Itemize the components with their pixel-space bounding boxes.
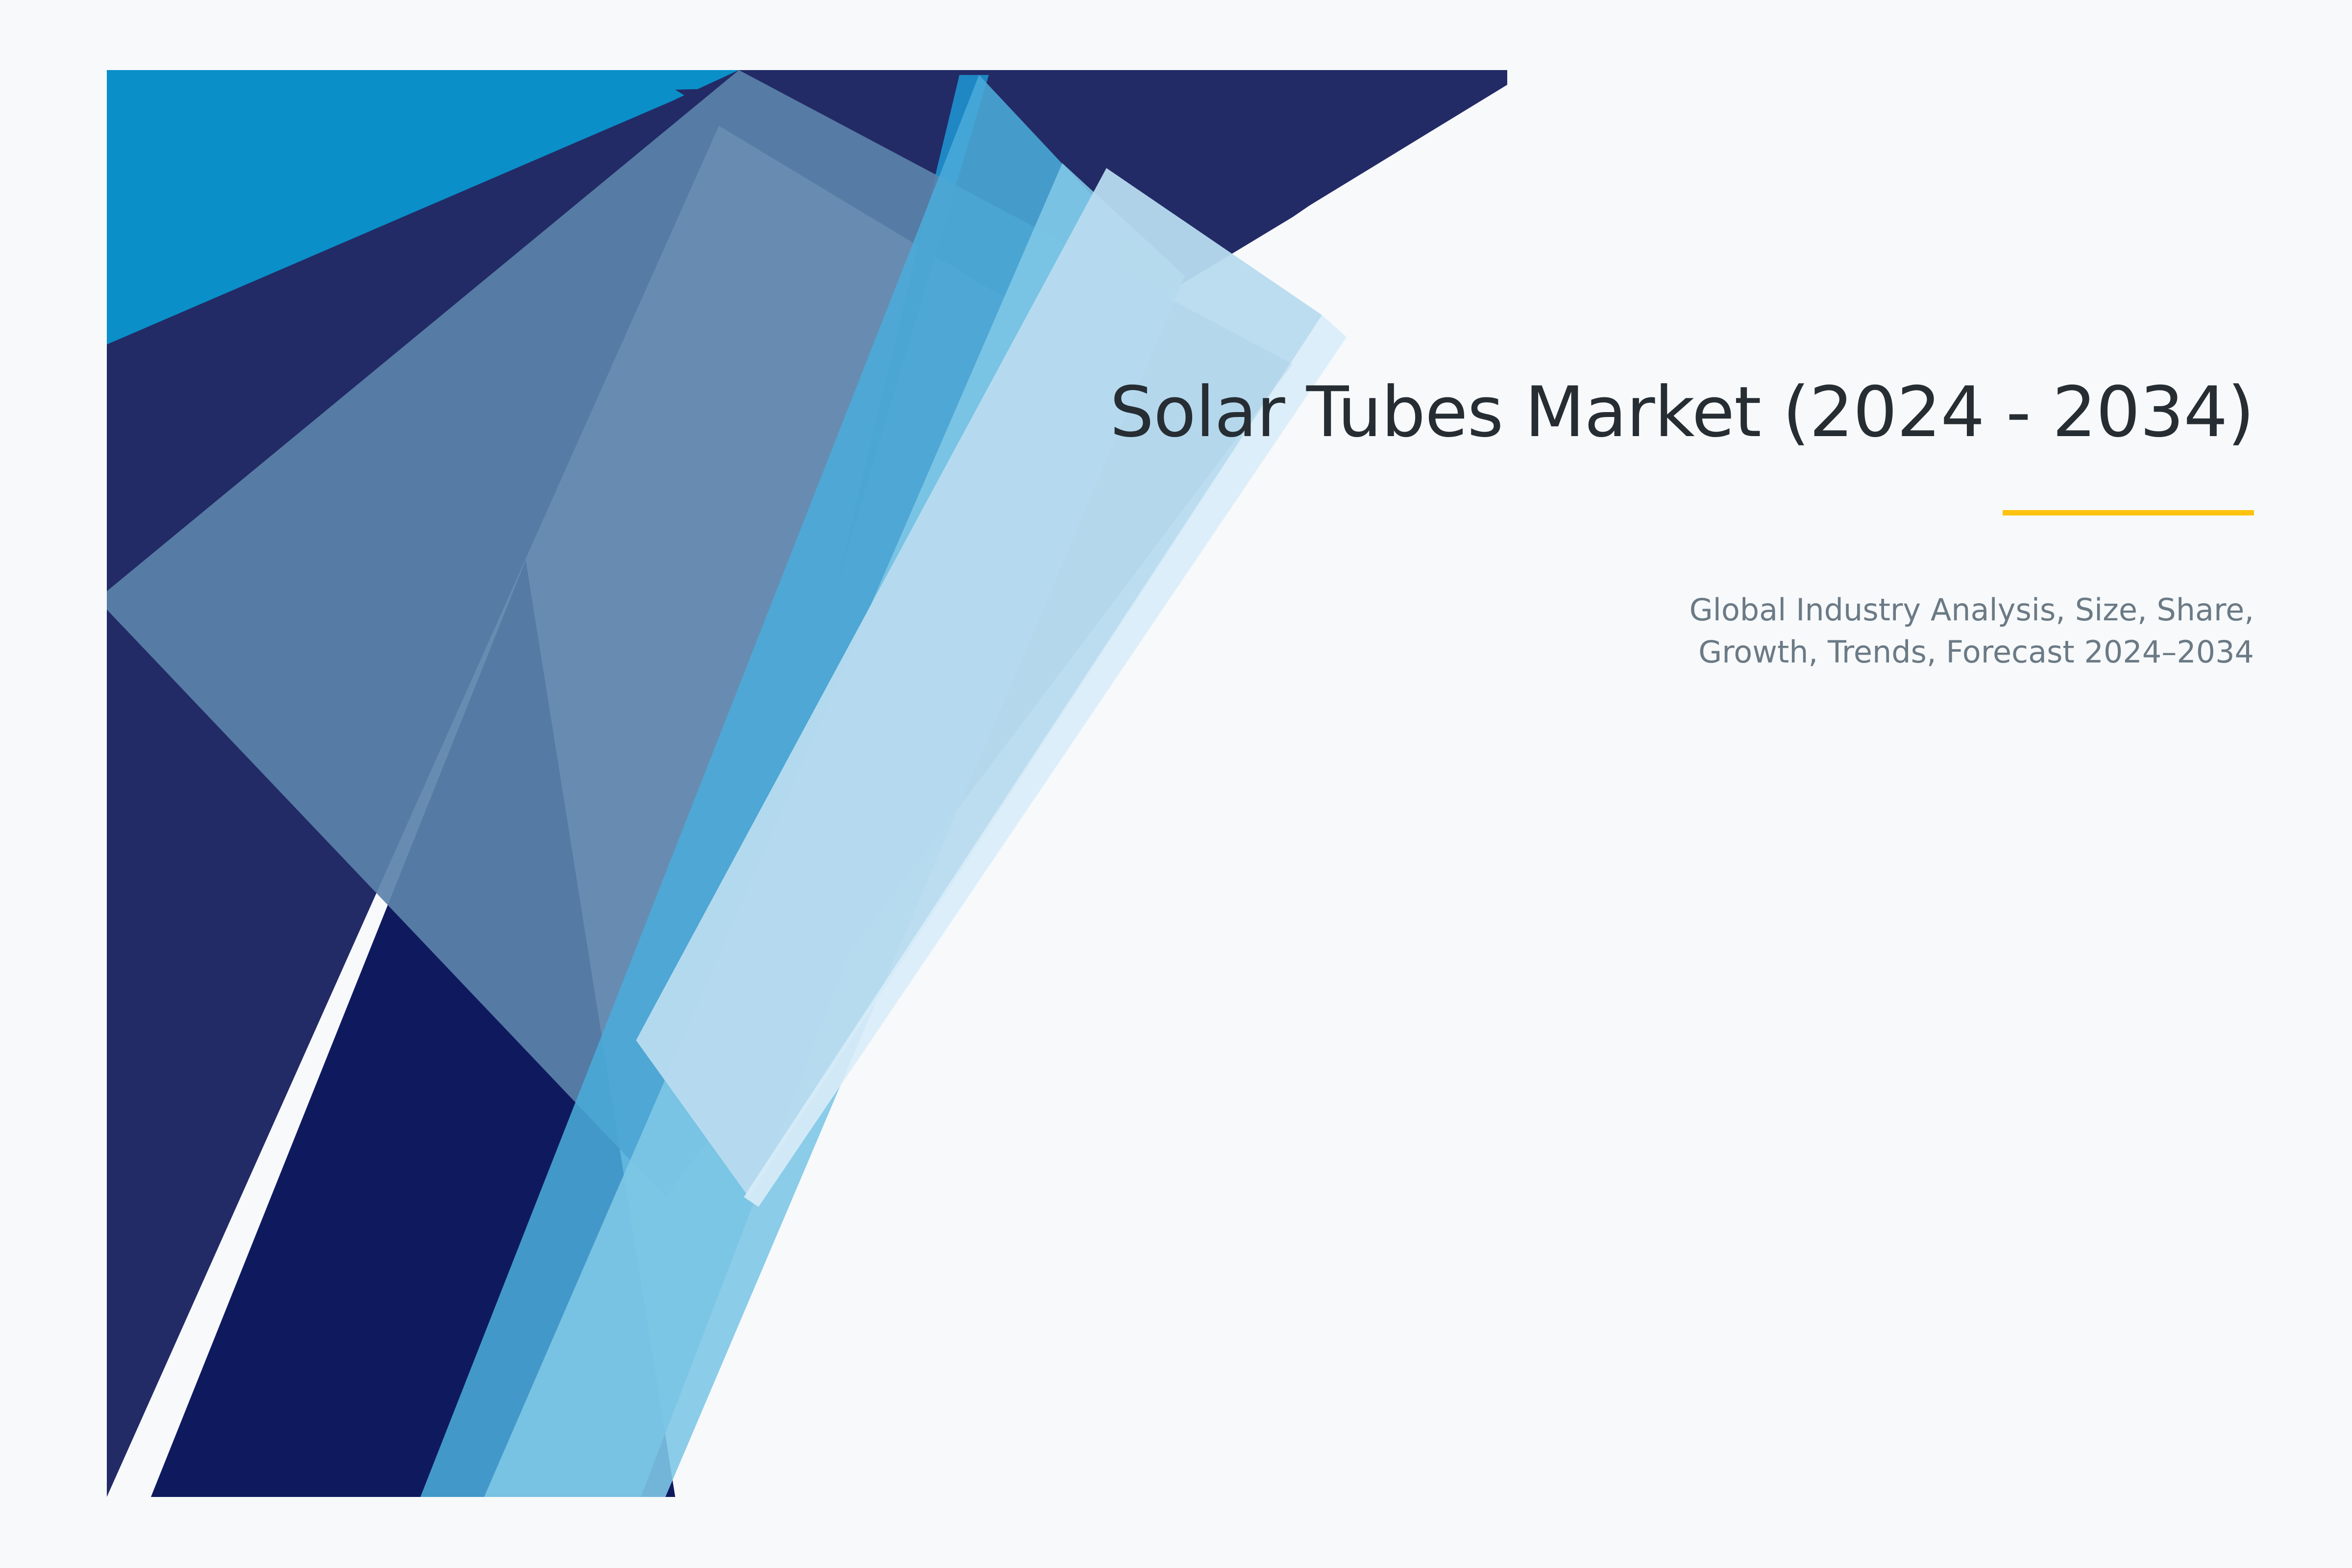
page-title: Solar Tubes Market (2024 - 2034) [931, 372, 2254, 452]
accent-rule-wrapper [931, 510, 2254, 515]
slide-canvas: Solar Tubes Market (2024 - 2034) Global … [0, 0, 2352, 1568]
page-subtitle: Global Industry Analysis, Size, Share, G… [1607, 589, 2254, 673]
artwork-svg [107, 70, 1507, 1497]
accent-rule [2003, 510, 2254, 515]
abstract-geometric-cover-graphic [107, 70, 1507, 1497]
cover-text-block: Solar Tubes Market (2024 - 2034) Global … [931, 372, 2254, 673]
